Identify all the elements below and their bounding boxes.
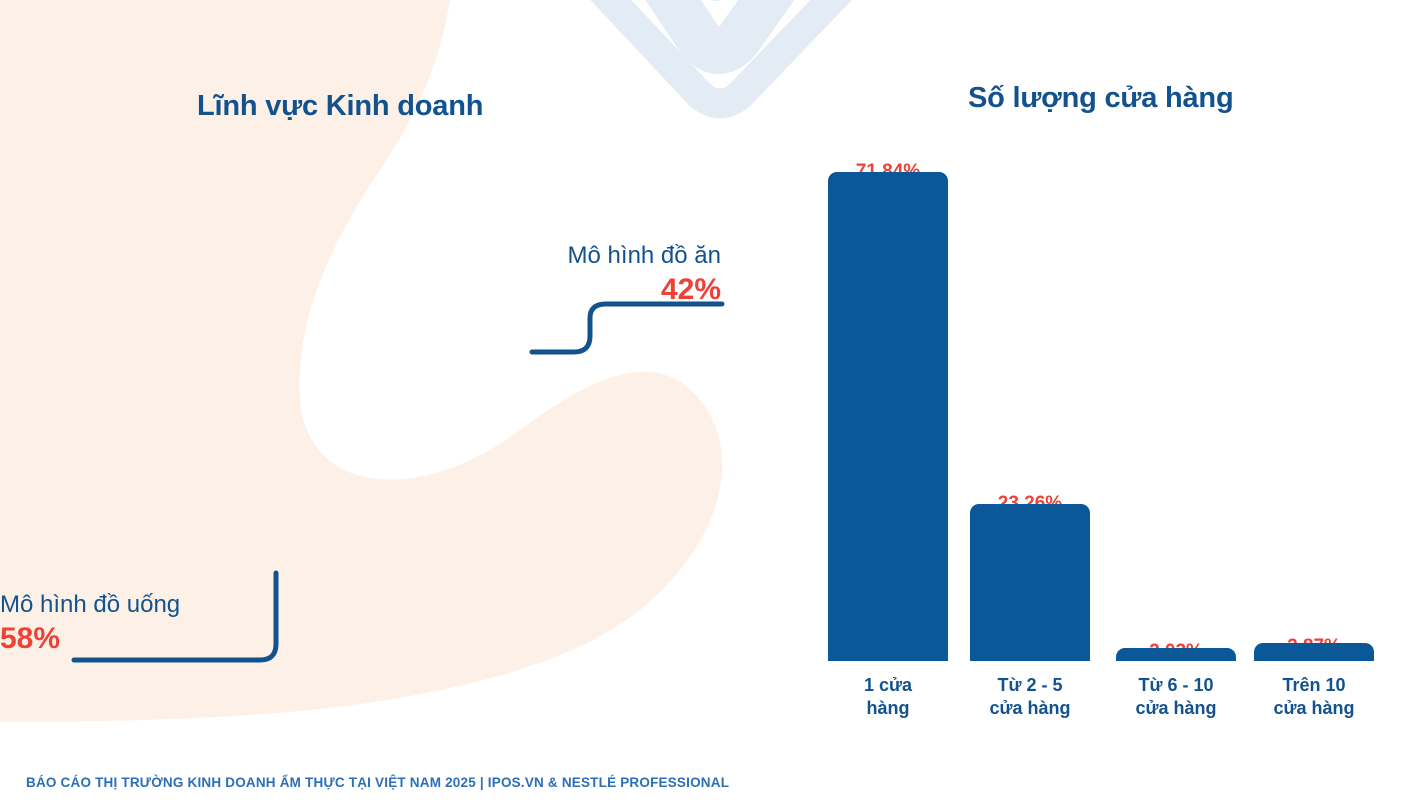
page-title-right: Số lượng cửa hàng (968, 82, 1233, 115)
bar-label-3: Từ 6 - 10 cửa hàng (1102, 674, 1250, 720)
bar-label-4: Trên 10 cửa hàng (1240, 674, 1388, 720)
bar-column-4: 2,87% Trên 10 cửa hàng (1254, 120, 1374, 720)
bar-column-3: 2,03% Từ 6 - 10 cửa hàng (1116, 120, 1236, 720)
bar-rect-2[interactable] (970, 504, 1090, 661)
connector-line-drink (70, 570, 290, 670)
footer-source-text: BÁO CÁO THỊ TRƯỜNG KINH DOANH ẨM THỰC TẠ… (26, 775, 729, 790)
callout-food-model: Mô hình đồ ăn 42% (400, 241, 721, 308)
bar-label-2: Từ 2 - 5 cửa hàng (956, 674, 1104, 720)
bar-label-1: 1 cửa hàng (814, 674, 962, 720)
bar-column-2: 23,26% Từ 2 - 5 cửa hàng (970, 120, 1090, 720)
bar-rect-3[interactable] (1116, 648, 1236, 661)
bar-rect-1[interactable] (828, 172, 948, 661)
infographic-slide: Lĩnh vực Kinh doanh Mô hình đồ ăn 42% Mô… (0, 0, 1425, 809)
connector-line-food (530, 300, 730, 364)
chevron-watermark-fill (600, 0, 840, 1)
page-title-left: Lĩnh vực Kinh doanh (197, 90, 483, 123)
chevron-watermark (470, 0, 975, 104)
store-count-bar-chart: 71,84% 1 cửa hàng 23,26% Từ 2 - 5 cửa hà… (828, 120, 1388, 720)
bar-column-1: 71,84% 1 cửa hàng (828, 120, 948, 720)
bar-rect-4[interactable] (1254, 643, 1374, 661)
callout-food-label: Mô hình đồ ăn (400, 241, 721, 271)
